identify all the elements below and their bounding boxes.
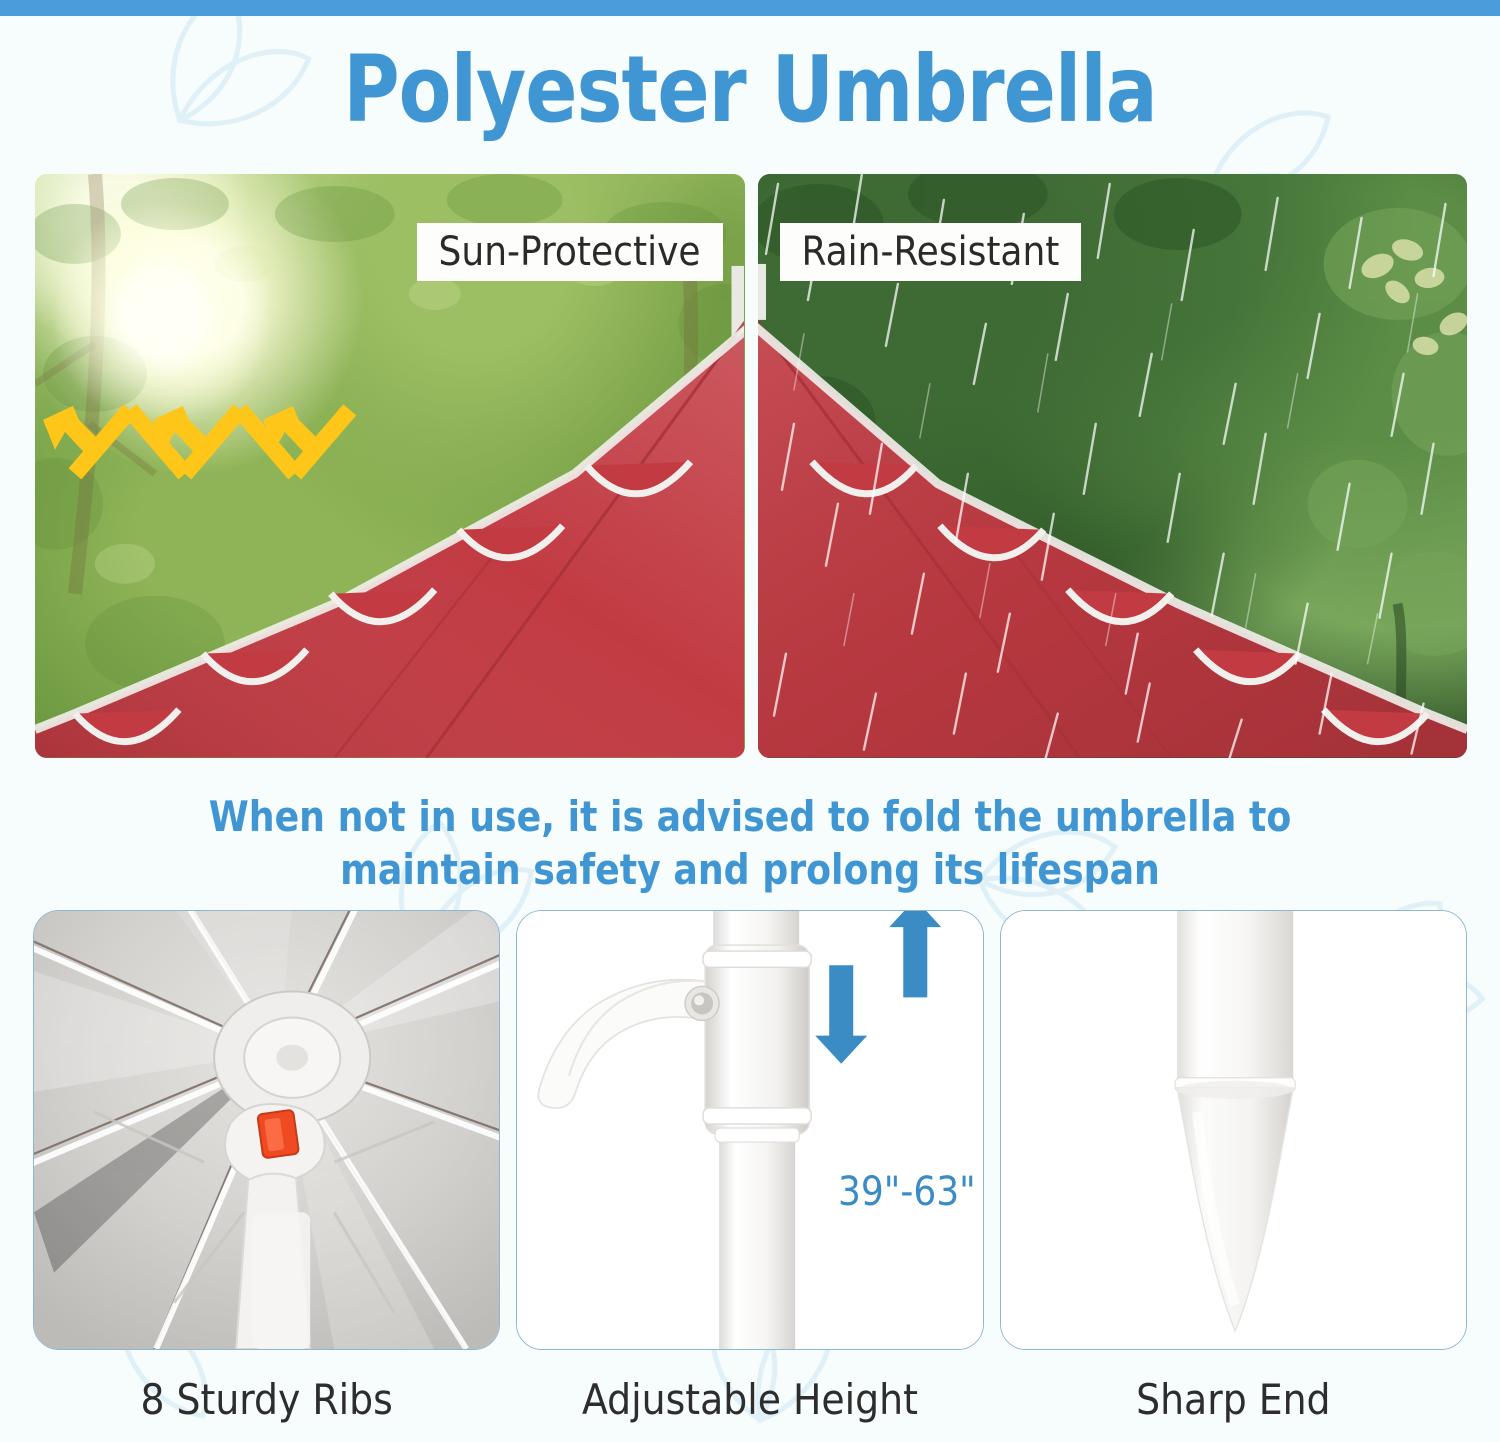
caption-height: Adjustable Height — [516, 1372, 983, 1432]
sharp-end-photo — [1001, 911, 1466, 1349]
ribs-photo — [34, 911, 499, 1349]
adjustable-height-photo — [517, 911, 982, 1349]
page-title: Polyester Umbrella — [53, 38, 1448, 142]
caption-ribs: 8 Sturdy Ribs — [33, 1372, 500, 1432]
care-note-line-1: When not in use, it is advised to fold t… — [30, 790, 1470, 843]
care-note-line-2: maintain safety and prolong its lifespan — [30, 843, 1470, 896]
caption-tip: Sharp End — [1000, 1372, 1467, 1432]
height-range-label: 39"-63" — [838, 1168, 976, 1216]
rain-resistant-photo: Rain-Resistant — [758, 174, 1468, 758]
sun-protective-label: Sun-Protective — [417, 223, 723, 281]
rain-resistant-label: Rain-Resistant — [780, 223, 1082, 281]
top-accent-bar — [0, 0, 1500, 16]
feature-card-row — [33, 910, 1467, 1350]
care-note: When not in use, it is advised to fold t… — [30, 790, 1470, 896]
sun-protective-photo: Sun-Protective — [35, 174, 745, 758]
feature-caption-row: 8 Sturdy Ribs Adjustable Height Sharp En… — [33, 1372, 1467, 1432]
feature-card-height — [516, 910, 983, 1350]
hero-photo-row: Sun-Protective — [35, 174, 1467, 758]
feature-card-ribs — [33, 910, 500, 1350]
feature-card-tip — [1000, 910, 1467, 1350]
